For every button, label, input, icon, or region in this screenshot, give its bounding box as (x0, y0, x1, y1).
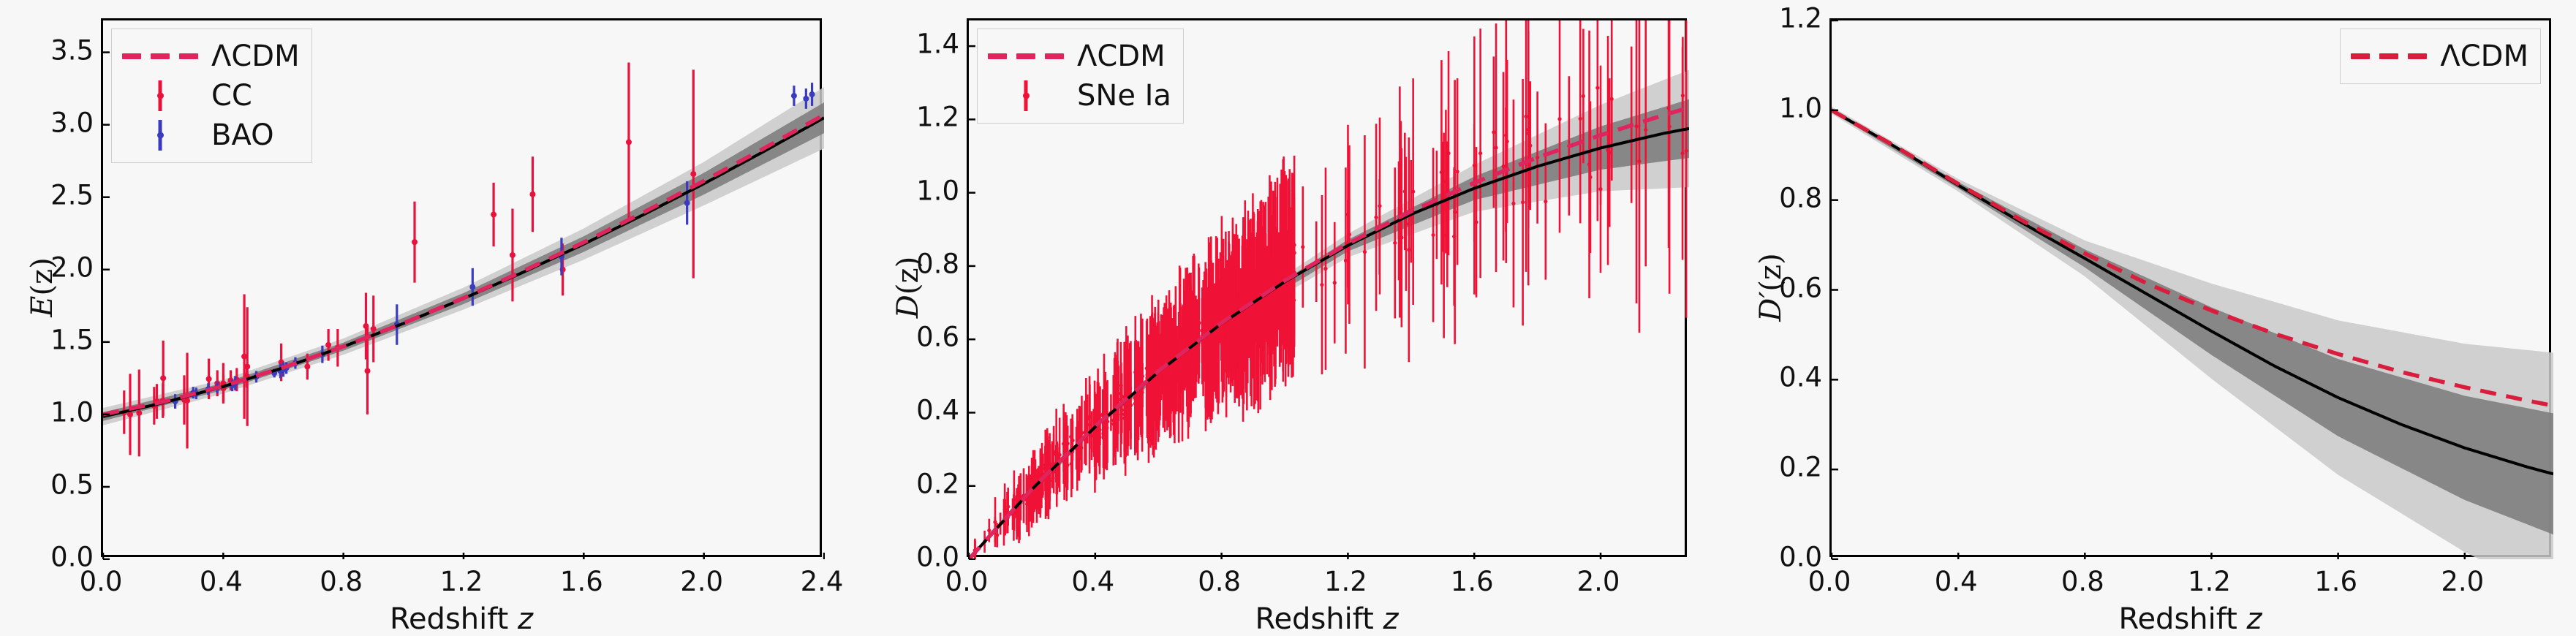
legend: ΛCDM (2340, 29, 2541, 84)
x-axis-label-symbol: z (2247, 602, 2262, 636)
legend-item: ΛCDM (2351, 37, 2528, 76)
legend-dashed-line-icon (2351, 42, 2427, 71)
figure-root: 0.00.40.81.21.62.02.40.00.51.01.52.02.53… (0, 0, 2576, 636)
panel-Dprime: 0.00.40.81.21.62.00.00.20.40.60.81.01.2D… (0, 0, 2576, 636)
y-tick-label: 1.0 (1759, 92, 1822, 124)
x-axis-label: Redshift z (1829, 602, 2551, 636)
y-tick-label: 0.0 (1759, 542, 1822, 573)
x-tick-label: 0.8 (2061, 566, 2104, 597)
x-tick-label: 1.6 (2314, 566, 2357, 597)
x-axis-label-text: Redshift (2118, 602, 2246, 636)
x-tick-label: 0.4 (1935, 566, 1978, 597)
y-axis-label-symbol: D′ (1754, 291, 1788, 321)
y-axis-label: D′(z) (1754, 200, 1788, 375)
y-axis-label-arg: (z) (1754, 253, 1788, 291)
x-tick-label: 2.0 (2441, 566, 2484, 597)
axes-frame (1829, 18, 2551, 557)
y-tick-label: 1.2 (1759, 3, 1822, 34)
tick-marks (1831, 20, 2554, 560)
legend-label: ΛCDM (2440, 39, 2528, 73)
x-tick-label: 1.2 (2188, 566, 2231, 597)
y-tick-label: 0.2 (1759, 452, 1822, 483)
